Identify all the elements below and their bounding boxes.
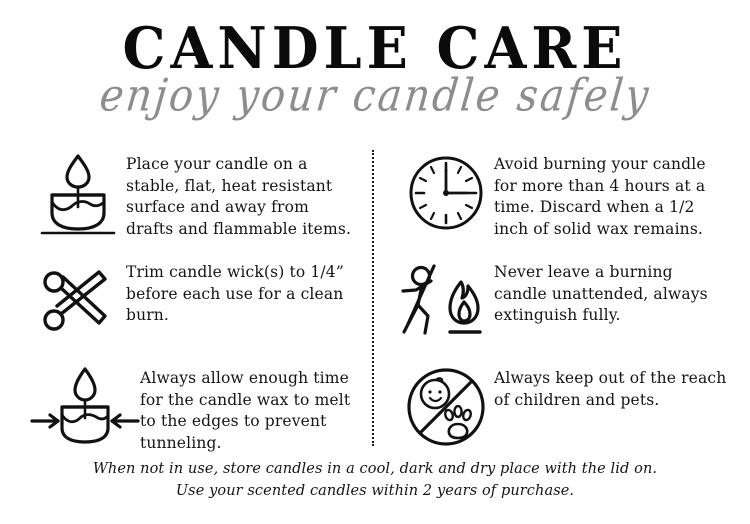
no-children-pets-icon bbox=[398, 364, 494, 450]
tip-item: Place your candle on a stable, flat, hea… bbox=[30, 150, 360, 240]
clock-icon bbox=[398, 150, 494, 236]
tip-item: Avoid burning your candle for more than … bbox=[398, 150, 728, 240]
candle-on-surface-icon bbox=[30, 150, 126, 236]
page-title: CANDLE CARE bbox=[0, 0, 750, 78]
tip-text: Trim candle wick(s) to 1/4” before each … bbox=[126, 258, 360, 327]
tip-item: Always allow enough time for the candle … bbox=[30, 364, 360, 454]
scissors-icon bbox=[30, 258, 126, 344]
tips-column-left: Place your candle on a stable, flat, hea… bbox=[30, 150, 360, 464]
tip-text: Always keep out of the reach of children… bbox=[494, 364, 728, 411]
column-divider bbox=[372, 150, 374, 446]
tip-text: Avoid burning your candle for more than … bbox=[494, 150, 728, 240]
tip-text: Place your candle on a stable, flat, hea… bbox=[126, 150, 360, 240]
tips-column-right: Avoid burning your candle for more than … bbox=[398, 150, 728, 460]
tip-item: Always keep out of the reach of children… bbox=[398, 364, 728, 450]
tip-text: Never leave a burning candle unattended,… bbox=[494, 258, 728, 327]
page-subtitle: enjoy your candle safely bbox=[97, 69, 653, 123]
footer-line-2: Use your scented candles within 2 years … bbox=[0, 480, 750, 502]
person-leaving-flame-icon bbox=[398, 258, 494, 344]
footer-line-1: When not in use, store candles in a cool… bbox=[0, 458, 750, 480]
candle-care-card: CANDLE CARE enjoy your candle safely bbox=[0, 0, 750, 524]
tip-item: Never leave a burning candle unattended,… bbox=[398, 258, 728, 344]
footer: When not in use, store candles in a cool… bbox=[0, 458, 750, 502]
subtitle-container: enjoy your candle safely bbox=[0, 72, 750, 126]
tip-item: Trim candle wick(s) to 1/4” before each … bbox=[30, 258, 360, 344]
tip-text: Always allow enough time for the candle … bbox=[140, 364, 360, 454]
header: CANDLE CARE bbox=[0, 0, 750, 74]
candle-melt-edges-icon bbox=[30, 364, 140, 450]
